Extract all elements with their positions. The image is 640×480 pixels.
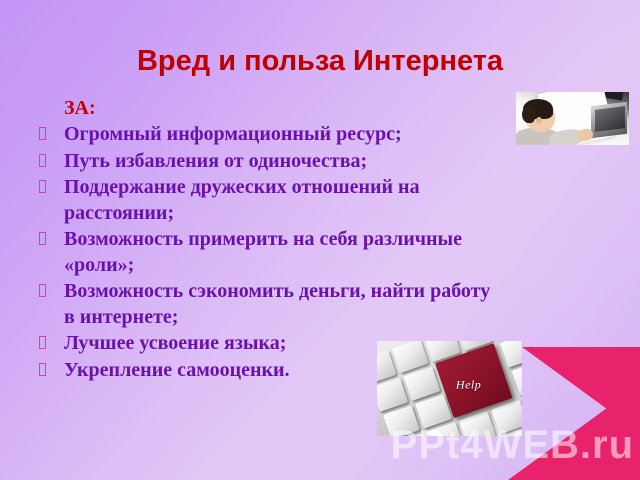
pros-heading: ЗА: (36, 96, 506, 121)
keyboard-key (383, 405, 420, 436)
person-hair-shape (522, 106, 535, 123)
list-item: Путь избавления от одиночества; (36, 149, 506, 175)
bullet-marker-icon (39, 154, 46, 167)
keyboard-key (459, 411, 496, 436)
bullet-marker-icon (39, 232, 46, 245)
bullet-marker-icon (39, 363, 46, 376)
person-ear-shape (536, 117, 542, 124)
keyboard-key (404, 367, 441, 401)
boy-at-laptop-photo (516, 92, 629, 145)
keyboard-key (500, 341, 522, 368)
laptop-screen-inner-shape (595, 106, 625, 132)
bullet-marker-icon (39, 336, 46, 349)
list-item: Возможность сэкономить деньги, найти раб… (36, 279, 506, 330)
list-item-label: Огромный информационный ресурс; (64, 122, 506, 148)
list-item-label: Путь избавления от одиночества; (64, 149, 506, 175)
help-key-label: Help (456, 378, 481, 393)
list-item-label: Возможность сэкономить деньги, найти раб… (64, 279, 506, 330)
page-title: Вред и польза Интернета (0, 44, 640, 78)
list-item: Огромный информационный ресурс; (36, 122, 506, 148)
presentation-slide: Вред и польза Интернета ЗА: Огромный инф… (0, 0, 640, 480)
list-item-label: Возможность примерить на себя различные … (64, 227, 506, 278)
bullet-marker-icon (39, 127, 46, 140)
list-item-label: Поддержание дружеских отношений на расст… (64, 175, 506, 226)
keyboard-key-grid: Help (377, 341, 522, 436)
bullet-marker-icon (39, 284, 46, 297)
corner-accent-shape (508, 384, 640, 480)
keyboard-help-key-photo: Help (377, 341, 522, 436)
list-item: Возможность примерить на себя различные … (36, 227, 506, 278)
list-item: Поддержание дружеских отношений на расст… (36, 175, 506, 226)
bullet-marker-icon (39, 180, 46, 193)
